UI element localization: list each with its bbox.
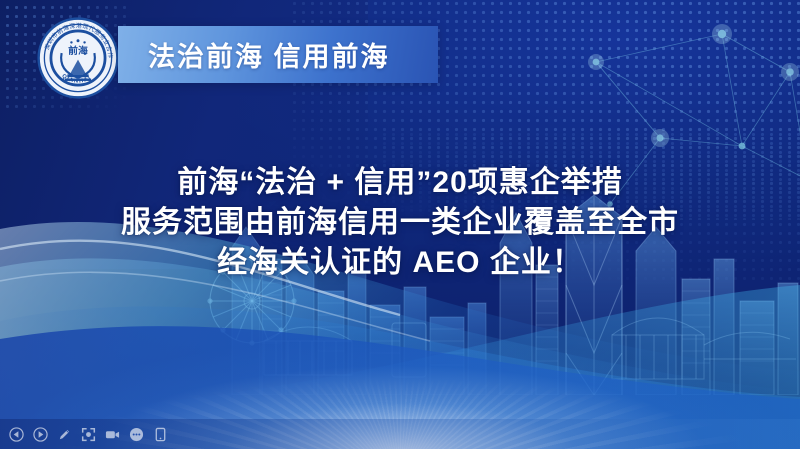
header: 深圳市前海深港现代服务业合作区管理局 QIANHAI 前海 法治前海 信用前海 [0,0,800,110]
qianhai-seal-logo-icon: 深圳市前海深港现代服务业合作区管理局 QIANHAI 前海 [37,17,119,99]
more-icon[interactable] [129,427,144,442]
headline-block: 前海“法治 + 信用”20项惠企举措 服务范围由前海信用一类企业覆盖至全市 经海… [0,163,800,283]
headline-line-3: 经海关认证的 AEO 企业！ [36,243,764,283]
headline-line-2: 服务范围由前海信用一类企业覆盖至全市 [36,203,764,243]
video-icon[interactable] [105,427,120,442]
play-icon[interactable] [33,427,48,442]
edit-pencil-icon[interactable] [57,427,72,442]
bottom-toolbar [0,419,800,449]
mobile-icon[interactable] [153,427,168,442]
fullscreen-icon[interactable] [81,427,96,442]
previous-icon[interactable] [9,427,24,442]
headline-line-1: 前海“法治 + 信用”20项惠企举措 [36,163,764,203]
poster-canvas: 深圳市前海深港现代服务业合作区管理局 QIANHAI 前海 法治前海 信用前海 … [0,0,800,449]
header-banner: 法治前海 信用前海 [118,26,438,83]
header-banner-label: 法治前海 信用前海 [148,35,390,74]
svg-text:前海: 前海 [68,44,88,57]
